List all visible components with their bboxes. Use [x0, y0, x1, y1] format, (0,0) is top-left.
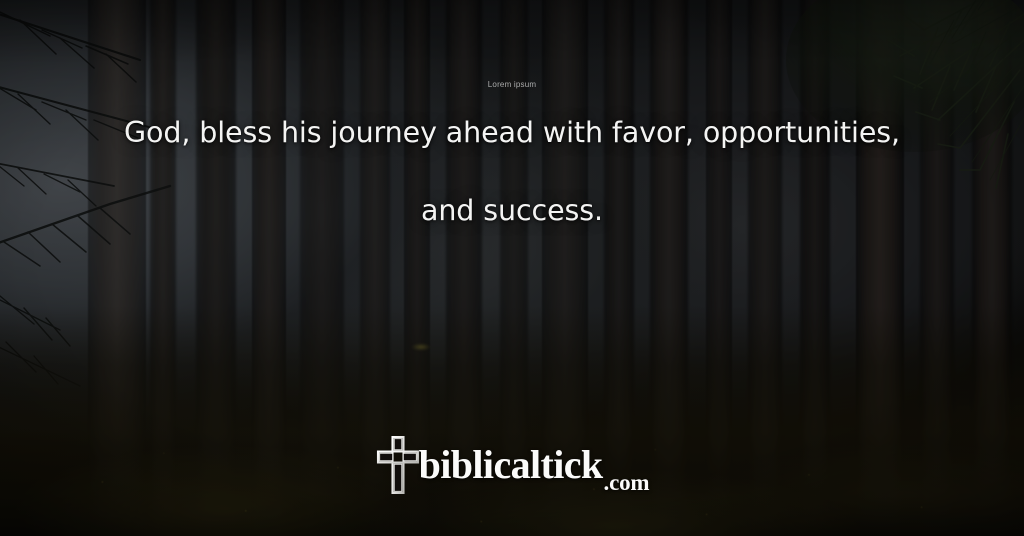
christian-cross-icon — [375, 434, 421, 496]
brand-tld: .com — [604, 471, 650, 496]
quote-card-canvas: Lorem ipsum God, bless his journey ahead… — [0, 0, 1024, 536]
brand-logo[interactable]: biblicaltick .com — [0, 434, 1024, 496]
card-content: Lorem ipsum God, bless his journey ahead… — [0, 0, 1024, 536]
quote-text: God, bless his journey ahead with favor,… — [72, 94, 952, 250]
brand-name: biblicaltick — [419, 445, 603, 485]
kicker-text: Lorem ipsum — [0, 80, 1024, 89]
